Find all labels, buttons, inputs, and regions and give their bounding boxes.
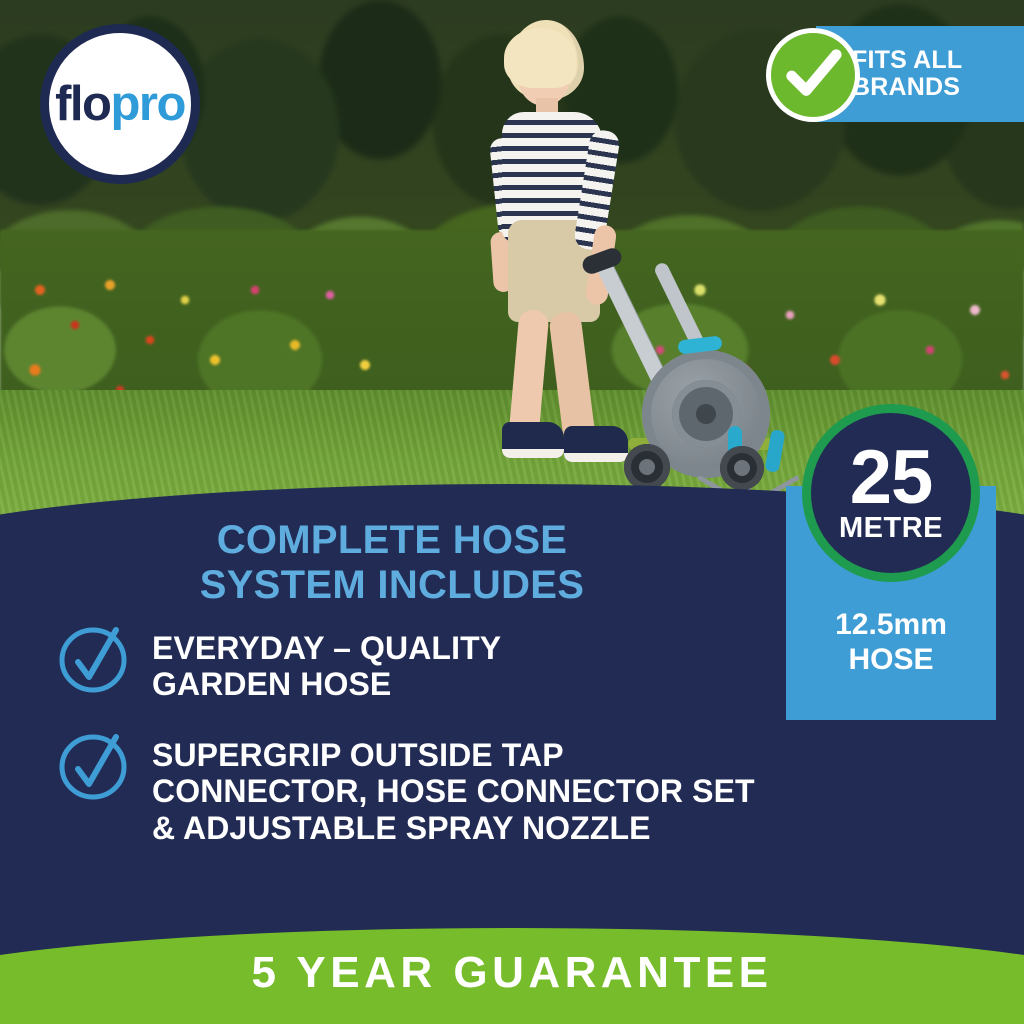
length-number: 25 (850, 443, 933, 513)
bullet-1-line-1: EVERYDAY – QUALITY (152, 630, 501, 666)
length-badge: 25 METRE (802, 404, 980, 582)
hair-front (504, 28, 576, 88)
left-shoe (502, 422, 564, 458)
bullet-2-line-1: SUPERGRIP OUTSIDE TAP (152, 737, 755, 773)
headline-line-2: SYSTEM INCLUDES (0, 563, 784, 608)
check-circle-icon (56, 620, 130, 694)
left-leg (508, 309, 549, 439)
hose-reel-cart (600, 258, 820, 483)
product-marketing-image: flopro FITS ALL BRANDS COMPLETE HOSE SYS… (0, 0, 1024, 1024)
bullet-1-line-2: GARDEN HOSE (152, 666, 501, 702)
fits-all-brands-text: FITS ALL BRANDS (852, 47, 962, 101)
check-icon (766, 28, 860, 122)
brand-logo: flopro (40, 24, 200, 184)
check-circle-icon (56, 727, 130, 801)
headline-line-1: COMPLETE HOSE (0, 518, 784, 563)
list-item-label: SUPERGRIP OUTSIDE TAP CONNECTOR, HOSE CO… (152, 731, 755, 846)
logo-flo: flo (55, 77, 110, 131)
cart-wheel-right (720, 446, 764, 490)
page-title: COMPLETE HOSE SYSTEM INCLUDES (0, 518, 784, 608)
logo-pro: pro (110, 77, 184, 131)
guarantee-text: 5 YEAR GUARANTEE (0, 948, 1024, 998)
fits-line-1: FITS ALL (852, 47, 962, 74)
bullet-2-line-2: CONNECTOR, HOSE CONNECTOR SET (152, 773, 755, 809)
reel-hub (696, 404, 716, 424)
length-unit: METRE (839, 514, 943, 543)
list-item-label: EVERYDAY – QUALITY GARDEN HOSE (152, 624, 501, 703)
cart-wheel-left (624, 444, 670, 490)
hose-diameter-text: 12.5mm HOSE (786, 608, 996, 678)
brand-logo-text: flopro (55, 80, 185, 129)
bullet-2-line-3: & ADJUSTABLE SPRAY NOZZLE (152, 810, 755, 846)
spray-nozzle (764, 429, 785, 473)
hose-diameter-value: 12.5mm (786, 608, 996, 643)
list-item: SUPERGRIP OUTSIDE TAP CONNECTOR, HOSE CO… (56, 731, 916, 846)
hose-diameter-label: HOSE (786, 643, 996, 678)
fits-line-2: BRANDS (852, 74, 962, 101)
